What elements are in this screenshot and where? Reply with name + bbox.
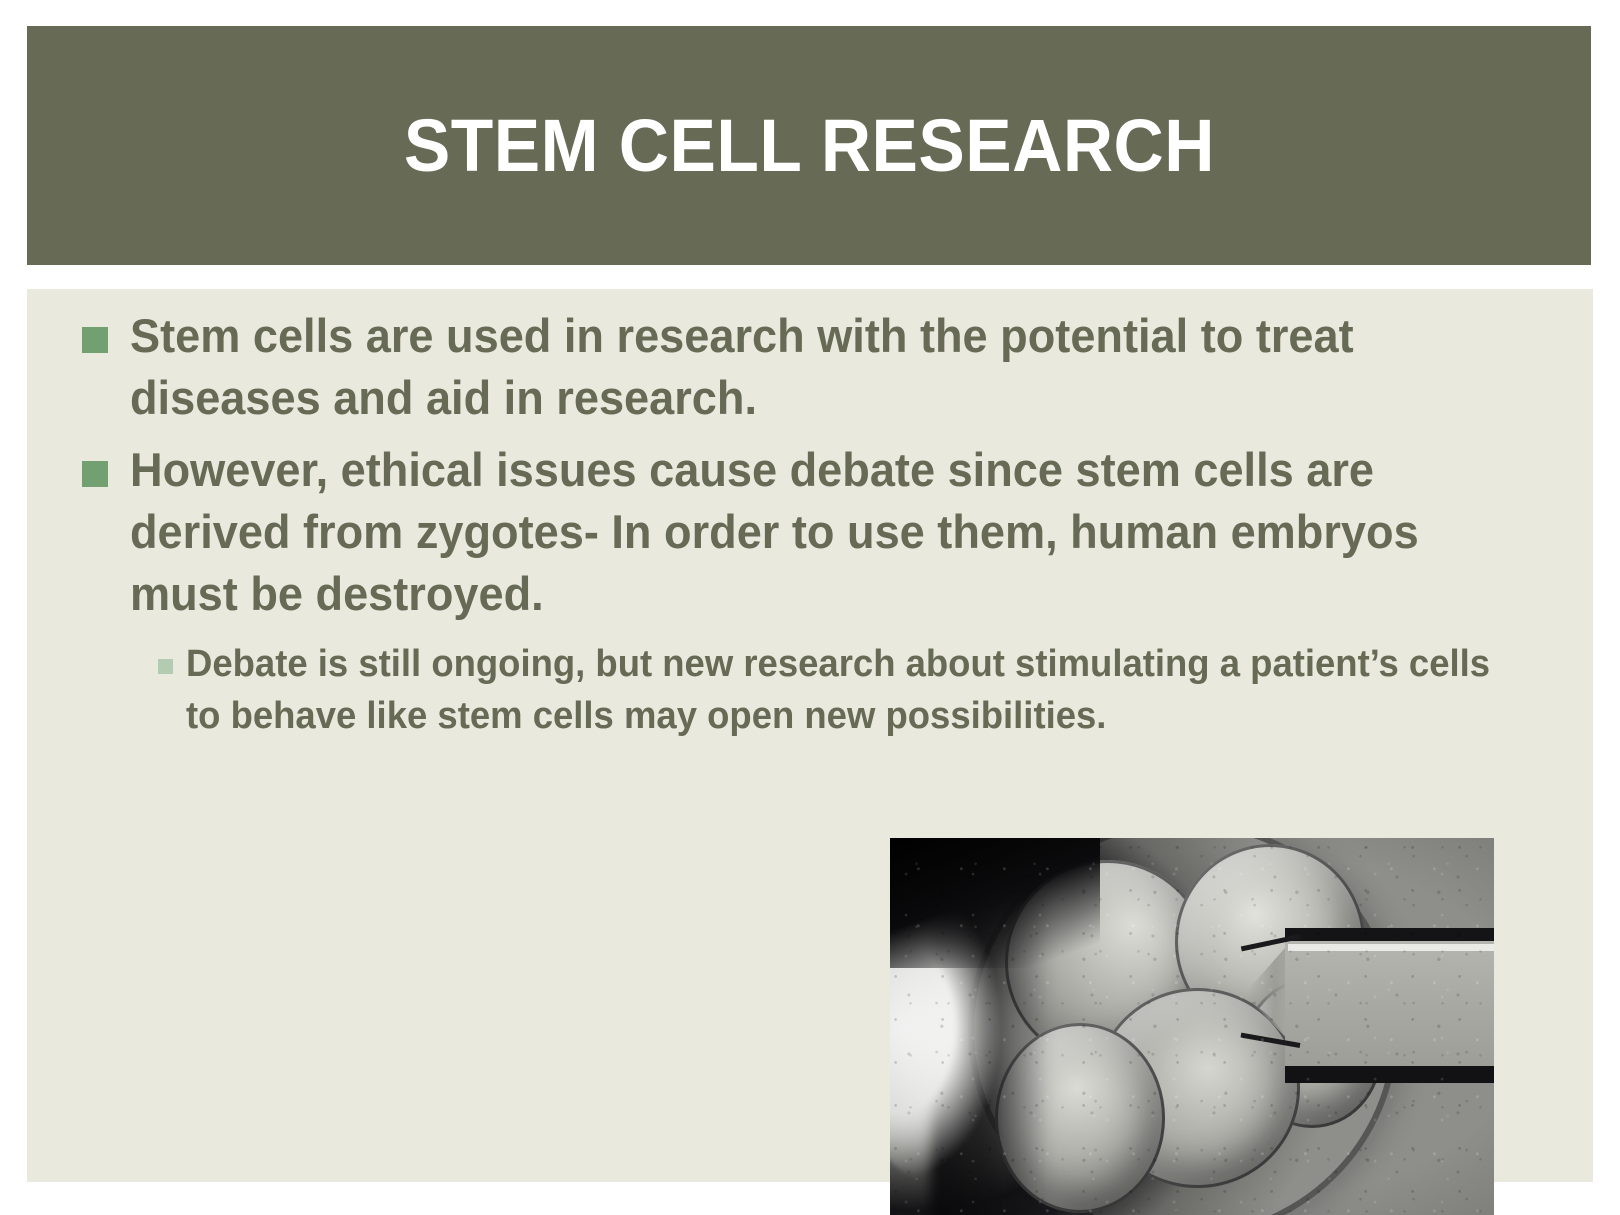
small-square-bullet-icon bbox=[158, 659, 173, 674]
bullet-list: Stem cells are used in research with the… bbox=[82, 305, 1572, 743]
square-bullet-icon bbox=[82, 327, 108, 353]
micrograph-vignette bbox=[890, 838, 1494, 1215]
sub-bullet-item-1-text: Debate is still ongoing, but new researc… bbox=[186, 639, 1517, 742]
sub-bullet-item-1: Debate is still ongoing, but new researc… bbox=[158, 639, 1572, 742]
bullet-item-1: Stem cells are used in research with the… bbox=[82, 305, 1572, 429]
sub-bullet-list: Debate is still ongoing, but new researc… bbox=[158, 639, 1572, 742]
page-title: STEM CELL RESEARCH bbox=[403, 109, 1214, 183]
bullet-item-2-text: However, ethical issues cause debate sin… bbox=[130, 439, 1514, 625]
square-bullet-icon bbox=[82, 461, 108, 487]
title-bar: STEM CELL RESEARCH bbox=[27, 26, 1591, 265]
bullet-item-1-text: Stem cells are used in research with the… bbox=[130, 305, 1514, 429]
bullet-item-2: However, ethical issues cause debate sin… bbox=[82, 439, 1572, 625]
embryo-micrograph-image bbox=[890, 838, 1494, 1215]
